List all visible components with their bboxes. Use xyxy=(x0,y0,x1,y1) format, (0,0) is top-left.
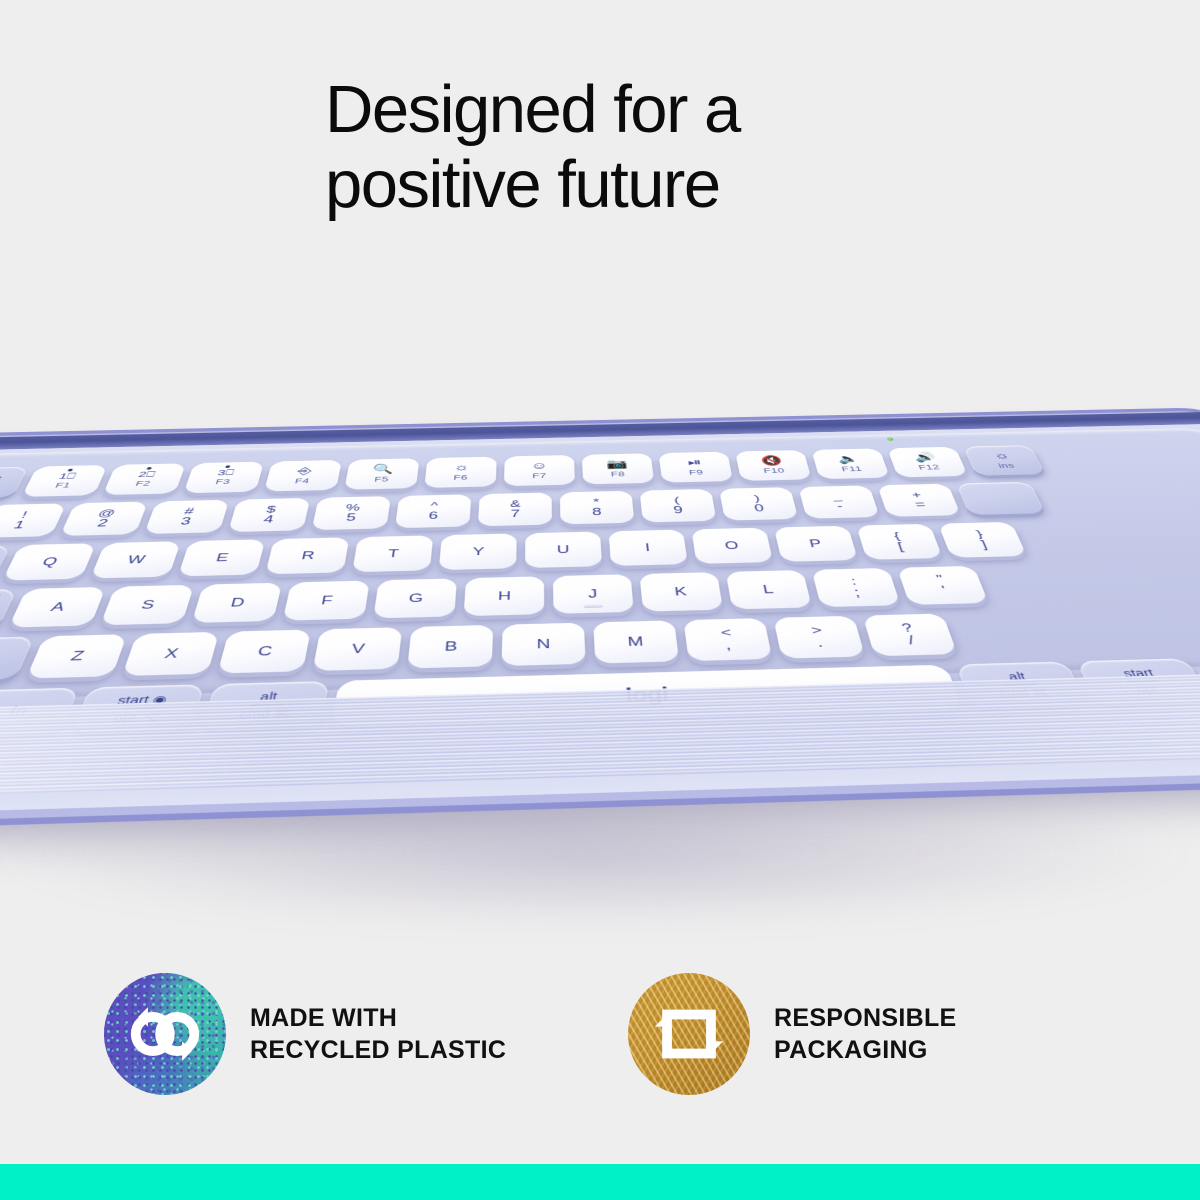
key-o[interactable]: O xyxy=(691,528,773,564)
key-minus-base: - xyxy=(836,501,845,512)
key-6[interactable]: ^ 6 xyxy=(395,494,471,528)
key-f8-label: F8 xyxy=(611,471,626,478)
key-y-label: Y xyxy=(472,546,484,558)
key-bracket-right[interactable]: } ] xyxy=(938,522,1027,558)
emoji-icon: ☺ xyxy=(531,461,548,471)
key-f2-label: F2 xyxy=(134,480,151,487)
screenshot-icon: 📷 xyxy=(606,459,628,469)
key-0[interactable]: ) 0 xyxy=(719,487,798,520)
brightness-icon: ☼ xyxy=(992,451,1012,461)
open-app-icon: ⎆ xyxy=(297,466,313,476)
key-4-base: 4 xyxy=(262,514,274,525)
key-equal-base: = xyxy=(914,500,928,511)
key-esc[interactable]: esc 🔒 xyxy=(0,467,29,499)
volume-down-icon: 🔈 xyxy=(837,454,861,464)
key-f5[interactable]: 🔍 F5 xyxy=(344,458,419,489)
key-f4-label: F4 xyxy=(294,477,310,484)
key-o-label: O xyxy=(724,540,740,552)
key-semicolon-shift: : xyxy=(850,575,858,586)
key-5[interactable]: % 5 xyxy=(312,496,391,530)
key-p-label: P xyxy=(808,538,823,549)
search-icon: 🔍 xyxy=(372,464,395,474)
key-esc-label: esc xyxy=(0,474,4,484)
key-1-base: 1 xyxy=(11,520,26,531)
key-f10-label: F10 xyxy=(763,467,786,474)
key-l[interactable]: L xyxy=(726,570,812,609)
key-9[interactable]: ( 9 xyxy=(640,489,717,523)
device-channel-icon: 2⎕ xyxy=(137,471,156,479)
key-p[interactable]: P xyxy=(774,526,858,562)
key-backspace[interactable] xyxy=(956,482,1046,515)
dictation-icon: ☼ xyxy=(453,463,469,473)
key-u-label: U xyxy=(557,544,570,556)
package-recycle-icon xyxy=(628,973,750,1095)
key-3[interactable]: # 3 xyxy=(144,500,229,534)
key-f1-label: F1 xyxy=(54,482,72,490)
keyboard-drop-shadow xyxy=(0,805,1180,925)
volume-up-icon: 🔊 xyxy=(913,453,938,463)
key-8[interactable]: * 8 xyxy=(560,491,635,525)
keyboard-body: esc 🔒 1⎕ F1 2⎕ F2 3⎕ F3 ⎆ F4 xyxy=(0,414,1200,819)
key-f11-label: F11 xyxy=(841,465,863,472)
key-y[interactable]: Y xyxy=(439,533,517,570)
key-f7-label: F7 xyxy=(532,472,546,479)
play-pause-icon: ⏯ xyxy=(687,458,702,468)
key-minus[interactable]: _ - xyxy=(798,485,880,518)
key-f11[interactable]: 🔈 F11 xyxy=(811,448,890,479)
key-bracket-left[interactable]: { [ xyxy=(856,524,943,560)
status-led xyxy=(887,437,894,440)
key-5-base: 5 xyxy=(345,512,356,523)
key-f6[interactable]: ☼ F6 xyxy=(424,457,497,488)
responsible-packaging-badge-circle xyxy=(628,973,750,1095)
key-f7[interactable]: ☺ F7 xyxy=(504,455,575,486)
key-7-base: 7 xyxy=(510,509,520,520)
key-u[interactable]: U xyxy=(525,532,602,569)
key-f3[interactable]: 3⎕ F3 xyxy=(183,462,264,494)
key-e[interactable]: E xyxy=(178,539,265,576)
key-r-label: R xyxy=(300,550,315,562)
key-f8[interactable]: 📷 F8 xyxy=(582,453,654,484)
key-equal[interactable]: + = xyxy=(877,484,961,517)
key-2-base: 2 xyxy=(95,518,109,529)
bottom-accent-bar xyxy=(0,1164,1200,1200)
device-channel-icon: 1⎕ xyxy=(57,472,77,480)
key-w-label: W xyxy=(126,554,147,566)
key-8-base: 8 xyxy=(592,507,602,518)
sustainability-badges: MADE WITH RECYCLED PLASTIC RESPONSIBLE P… xyxy=(0,955,1200,1130)
key-bracket-left-base: [ xyxy=(896,541,905,552)
key-3-base: 3 xyxy=(179,516,192,527)
key-ins-label: ins xyxy=(997,462,1016,469)
key-2[interactable]: @ 2 xyxy=(60,502,148,536)
product-image-keyboard: esc 🔒 1⎕ F1 2⎕ F2 3⎕ F3 ⎆ F4 xyxy=(0,300,1200,940)
key-1[interactable]: ! 1 xyxy=(0,503,66,538)
key-6-base: 6 xyxy=(428,511,439,522)
key-f12-label: F12 xyxy=(918,464,942,471)
key-i[interactable]: I xyxy=(609,530,688,566)
key-9-base: 9 xyxy=(673,505,684,516)
key-f5-label: F5 xyxy=(374,476,389,483)
key-f1[interactable]: 1⎕ F1 xyxy=(21,465,107,497)
key-0-base: 0 xyxy=(753,503,765,514)
badge-responsible-packaging: RESPONSIBLE PACKAGING xyxy=(628,973,957,1095)
responsible-packaging-badge-label: RESPONSIBLE PACKAGING xyxy=(774,1002,957,1067)
mute-icon: 🔇 xyxy=(760,456,783,466)
key-i-label: I xyxy=(644,542,650,553)
key-f10[interactable]: 🔇 F10 xyxy=(735,450,812,481)
key-f2[interactable]: 2⎕ F2 xyxy=(103,463,186,495)
key-f9-label: F9 xyxy=(689,469,704,476)
recycle-loop-icon xyxy=(104,973,226,1095)
recycled-plastic-badge-circle xyxy=(104,973,226,1095)
key-ins[interactable]: ☼ ins xyxy=(963,445,1046,476)
recycled-plastic-badge-label: MADE WITH RECYCLED PLASTIC xyxy=(250,1002,506,1067)
device-channel-icon: 3⎕ xyxy=(217,469,235,477)
key-bracket-right-base: ] xyxy=(979,539,989,550)
key-q-label: Q xyxy=(40,556,59,568)
key-f4[interactable]: ⎆ F4 xyxy=(264,460,342,492)
key-e-label: E xyxy=(215,552,230,564)
key-t[interactable]: T xyxy=(352,535,433,572)
key-f6-label: F6 xyxy=(453,474,468,481)
key-7[interactable]: & 7 xyxy=(478,493,552,527)
key-t-label: T xyxy=(387,548,399,560)
key-f12[interactable]: 🔊 F12 xyxy=(887,447,968,478)
key-f9[interactable]: ⏯ F9 xyxy=(659,452,734,483)
page-title: Designed for a positive future xyxy=(325,72,1085,222)
badge-made-with-recycled-plastic: MADE WITH RECYCLED PLASTIC xyxy=(104,973,506,1095)
key-r[interactable]: R xyxy=(265,537,349,574)
key-f3-label: F3 xyxy=(215,478,232,485)
key-4[interactable]: $ 4 xyxy=(228,498,310,532)
